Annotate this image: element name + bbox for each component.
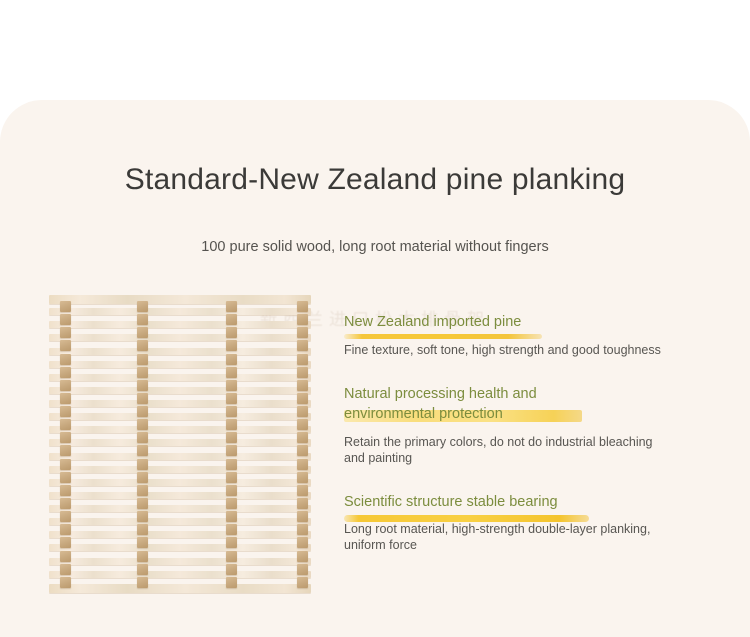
support-column-block xyxy=(137,354,148,365)
support-column-block xyxy=(137,459,148,470)
support-column-block xyxy=(297,419,308,430)
support-column-block xyxy=(137,498,148,509)
feature-heading: New Zealand imported pine xyxy=(344,312,521,333)
support-column-block xyxy=(226,564,237,575)
feature-heading: Scientific structure stable bearing xyxy=(344,492,558,513)
support-column-block xyxy=(297,406,308,417)
support-column-block xyxy=(60,537,71,548)
support-column-block xyxy=(226,485,237,496)
support-column-block xyxy=(137,524,148,535)
support-column-block xyxy=(226,340,237,351)
support-column-block xyxy=(137,380,148,391)
product-image-slatted-bed-base xyxy=(49,295,311,597)
support-column-block xyxy=(137,314,148,325)
support-column-block xyxy=(297,524,308,535)
support-column-block xyxy=(60,432,71,443)
support-column-block xyxy=(226,419,237,430)
support-column-block xyxy=(60,445,71,456)
support-column-block xyxy=(60,472,71,483)
support-column-block xyxy=(137,511,148,522)
support-column-block xyxy=(297,327,308,338)
support-column-block xyxy=(60,327,71,338)
support-column-block xyxy=(226,445,237,456)
wood-slat xyxy=(49,571,311,578)
support-column-block xyxy=(226,459,237,470)
wood-slat xyxy=(49,374,311,381)
support-column-block xyxy=(226,432,237,443)
wood-slat xyxy=(49,439,311,446)
support-column-block xyxy=(226,354,237,365)
support-column-block xyxy=(137,367,148,378)
page-title: Standard-New Zealand pine planking xyxy=(0,163,750,197)
feature-heading: Natural processing health and environmen… xyxy=(344,384,537,425)
support-column-block xyxy=(297,564,308,575)
support-column-block xyxy=(226,577,237,588)
wood-slat xyxy=(49,518,311,525)
support-column-block xyxy=(60,577,71,588)
support-column-block xyxy=(60,354,71,365)
support-column-block xyxy=(226,327,237,338)
feature-item: Scientific structure stable bearing Long… xyxy=(344,492,714,554)
support-column-block xyxy=(297,354,308,365)
support-column-block xyxy=(137,419,148,430)
wood-slat xyxy=(49,558,311,565)
support-column-block xyxy=(297,432,308,443)
wood-slat xyxy=(49,505,311,512)
support-column-block xyxy=(137,301,148,312)
support-column-block xyxy=(297,314,308,325)
support-column-block xyxy=(137,537,148,548)
support-column-block xyxy=(137,485,148,496)
support-column-block xyxy=(226,393,237,404)
page-subtitle: 100 pure solid wood, long root material … xyxy=(0,239,750,255)
support-column-block xyxy=(60,459,71,470)
support-column-block xyxy=(137,406,148,417)
support-column-block xyxy=(226,380,237,391)
support-column-block xyxy=(137,340,148,351)
support-column-block xyxy=(137,577,148,588)
wood-slat xyxy=(49,400,311,407)
support-column-block xyxy=(297,380,308,391)
support-column-block xyxy=(137,551,148,562)
support-column-block xyxy=(137,432,148,443)
support-column-block xyxy=(226,314,237,325)
wood-slat xyxy=(49,334,311,341)
support-column-block xyxy=(60,485,71,496)
feature-list: New Zealand imported pine Fine texture, … xyxy=(344,312,714,579)
support-column-block xyxy=(137,564,148,575)
support-column-block xyxy=(297,301,308,312)
support-column-block xyxy=(60,564,71,575)
support-column-block xyxy=(60,314,71,325)
wood-slat xyxy=(49,321,311,328)
feature-item: Natural processing health and environmen… xyxy=(344,384,714,466)
support-column-block xyxy=(297,577,308,588)
feature-description: Retain the primary colors, do not do ind… xyxy=(344,434,714,466)
support-column-block xyxy=(60,498,71,509)
support-column-block xyxy=(226,524,237,535)
product-detail-page: Standard-New Zealand pine planking 新西兰进口… xyxy=(0,0,750,637)
support-column-block xyxy=(60,340,71,351)
support-column-block xyxy=(137,393,148,404)
support-column-block xyxy=(297,472,308,483)
support-column-block xyxy=(297,551,308,562)
support-column-block xyxy=(226,406,237,417)
wood-slat xyxy=(49,348,311,355)
wood-slat xyxy=(49,531,311,538)
support-column-block xyxy=(226,511,237,522)
support-column-block xyxy=(60,301,71,312)
support-column-block xyxy=(297,445,308,456)
wood-slat xyxy=(49,544,311,551)
support-column-block xyxy=(226,472,237,483)
wood-slat xyxy=(49,426,311,433)
support-column-block xyxy=(137,472,148,483)
support-column-block xyxy=(297,485,308,496)
support-column-block xyxy=(60,524,71,535)
feature-description: Long root material, high-strength double… xyxy=(344,521,714,553)
support-column-block xyxy=(297,459,308,470)
wood-slat xyxy=(49,387,311,394)
support-column-block xyxy=(297,498,308,509)
feature-description: Fine texture, soft tone, high strength a… xyxy=(344,342,714,358)
support-column-block xyxy=(226,498,237,509)
wood-slat xyxy=(49,413,311,420)
support-column-block xyxy=(226,367,237,378)
support-column-block xyxy=(60,367,71,378)
support-column-block xyxy=(297,393,308,404)
wood-slat xyxy=(49,479,311,486)
support-column-block xyxy=(60,380,71,391)
support-column-block xyxy=(226,537,237,548)
support-column-block xyxy=(60,406,71,417)
support-column-block xyxy=(60,393,71,404)
support-column-block xyxy=(297,537,308,548)
wood-slat xyxy=(49,453,311,460)
wood-slat xyxy=(49,584,311,593)
support-column-block xyxy=(60,511,71,522)
wood-slat xyxy=(49,308,311,315)
support-column-block xyxy=(297,511,308,522)
highlight-underline xyxy=(344,515,589,522)
content-card: Standard-New Zealand pine planking 新西兰进口… xyxy=(0,100,750,637)
support-column-block xyxy=(60,551,71,562)
support-column-block xyxy=(297,340,308,351)
wood-slat xyxy=(49,295,311,304)
highlight-underline xyxy=(344,334,542,339)
support-column-block xyxy=(137,445,148,456)
support-column-block xyxy=(226,551,237,562)
wood-slat xyxy=(49,492,311,499)
wood-slat xyxy=(49,361,311,368)
support-column-block xyxy=(226,301,237,312)
wood-slat xyxy=(49,466,311,473)
support-column-block xyxy=(60,419,71,430)
feature-item: New Zealand imported pine Fine texture, … xyxy=(344,312,714,358)
support-column-block xyxy=(297,367,308,378)
support-column-block xyxy=(137,327,148,338)
